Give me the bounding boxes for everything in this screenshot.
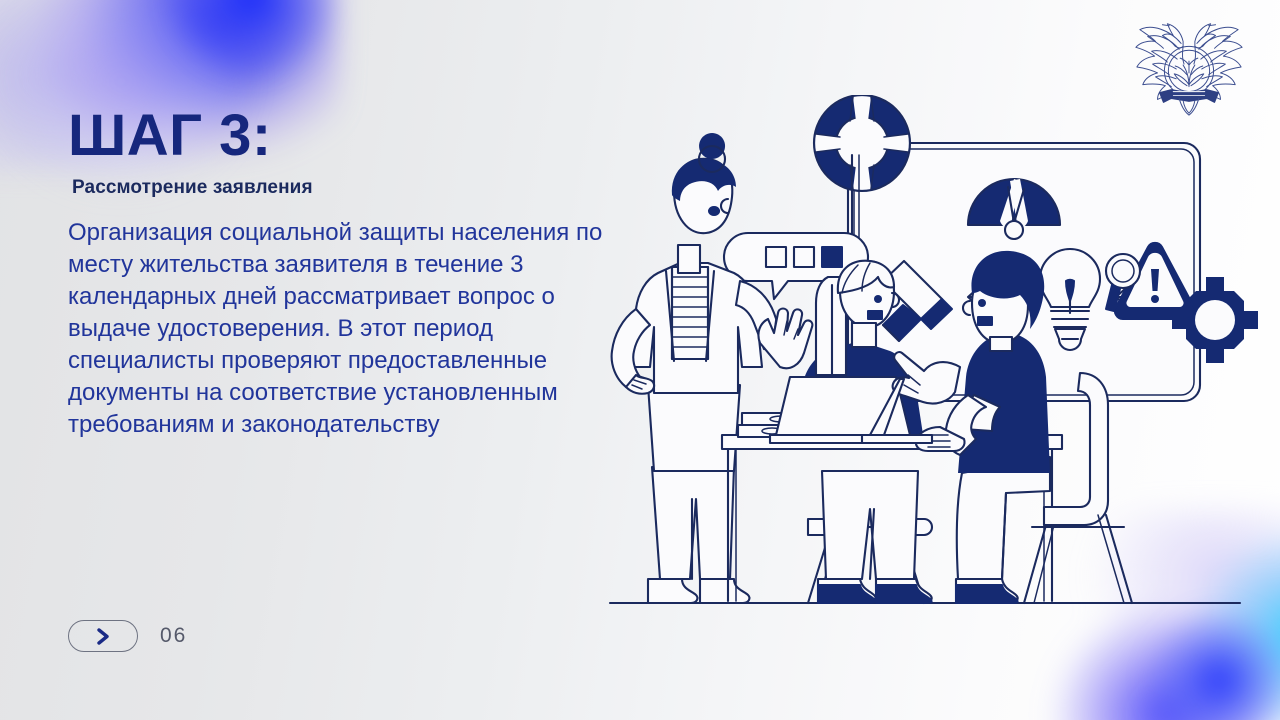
lifebuoy-icon [814, 95, 910, 191]
gradient-blob-top-left-core [120, 0, 360, 90]
slide-root: ШАГ 3: Рассмотрение заявления Организаци… [0, 0, 1280, 720]
chevron-right-icon [96, 628, 111, 645]
footer-nav: 06 [68, 620, 187, 652]
office-consultation-illustration: .ln{fill:none;stroke:#1b2a5e;stroke-widt… [600, 95, 1260, 640]
page-number: 06 [160, 624, 187, 648]
text-column: ШАГ 3: Рассмотрение заявления Организаци… [68, 106, 628, 441]
body-text: Организация социальной защиты населения … [68, 217, 608, 440]
next-button[interactable] [68, 620, 138, 652]
standing-woman-presenter [612, 133, 813, 603]
page-title: ШАГ 3: [68, 106, 628, 165]
page-subtitle: Рассмотрение заявления [72, 177, 628, 199]
